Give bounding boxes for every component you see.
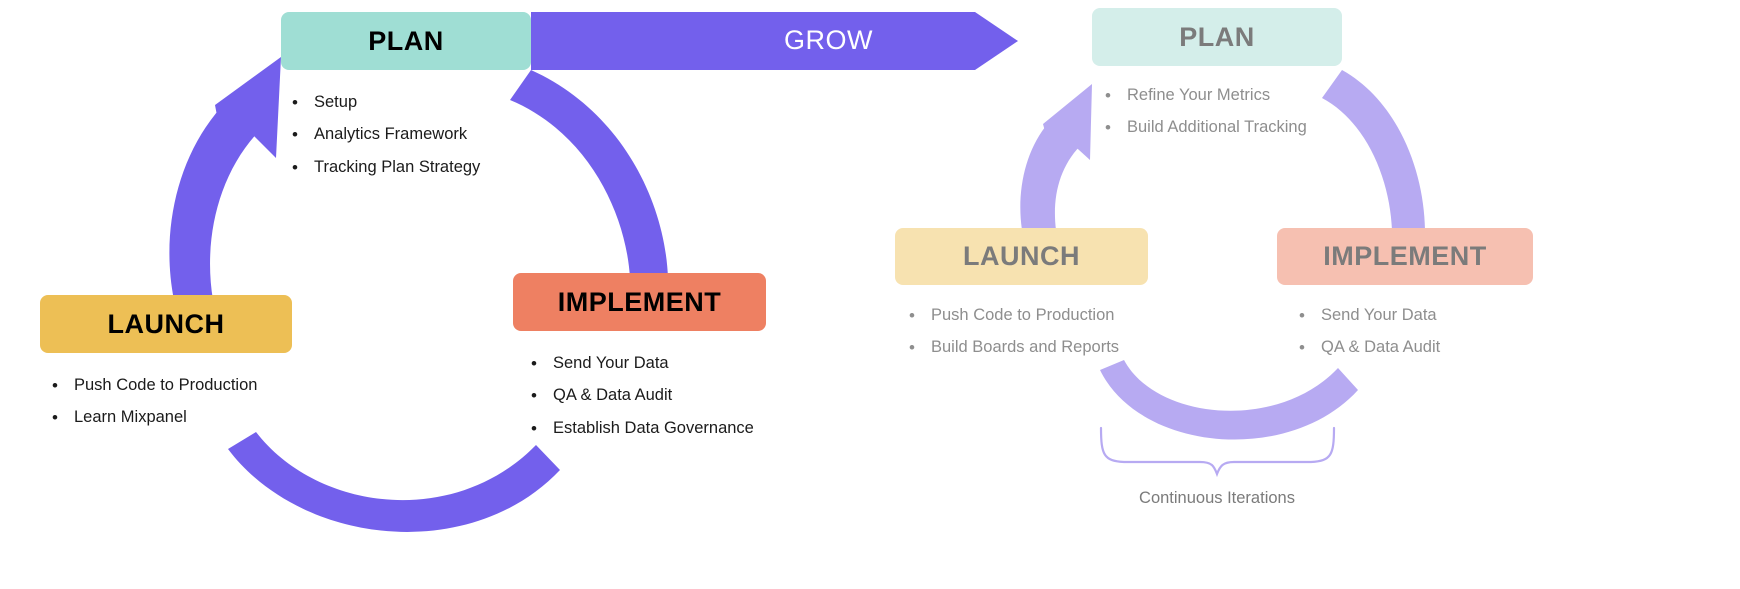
list-item: • Send Your Data [1299,305,1533,326]
node-implement-faded: IMPLEMENT • Send Your Data • QA & Data A… [1277,228,1533,370]
launch-primary-bullets: • Push Code to Production • Learn Mixpan… [52,375,292,429]
list-item: • Push Code to Production [909,305,1148,326]
bullet-icon: • [909,305,931,326]
list-item-label: Establish Data Governance [553,418,766,439]
arrow-launch-to-plan-faded [1020,84,1092,230]
bullet-icon: • [1105,117,1127,138]
implement-primary-bullets: • Send Your Data • QA & Data Audit • Est… [531,353,766,439]
list-item: • Setup [292,92,531,113]
list-item: • Learn Mixpanel [52,407,292,428]
list-item-label: QA & Data Audit [553,385,766,406]
bullet-icon: • [52,407,74,428]
node-launch-primary: LAUNCH • Push Code to Production • Learn… [40,295,292,440]
list-item: • Send Your Data [531,353,766,374]
bullet-icon: • [909,337,931,358]
bullet-icon: • [531,385,553,406]
launch-faded-bullets: • Push Code to Production • Build Boards… [909,305,1148,359]
plan-primary-bullets: • Setup • Analytics Framework • Tracking… [292,92,531,178]
plan-faded-bullets: • Refine Your Metrics • Build Additional… [1105,85,1342,139]
list-item-label: Push Code to Production [74,375,292,396]
list-item-label: Send Your Data [1321,305,1533,326]
implement-faded-bullets: • Send Your Data • QA & Data Audit [1299,305,1533,359]
list-item-label: Push Code to Production [931,305,1148,326]
list-item: • Push Code to Production [52,375,292,396]
node-implement-primary: IMPLEMENT • Send Your Data • QA & Data A… [513,273,766,450]
plan-primary-title: PLAN [281,12,531,70]
list-item-label: QA & Data Audit [1321,337,1533,358]
list-item: • Build Additional Tracking [1105,117,1342,138]
node-plan-faded: PLAN • Refine Your Metrics • Build Addit… [1092,8,1342,150]
list-item: • QA & Data Audit [1299,337,1533,358]
bullet-icon: • [292,124,314,145]
grow-label: GROW [784,25,873,56]
bullet-icon: • [292,92,314,113]
list-item: • Analytics Framework [292,124,531,145]
continuous-iterations-label: Continuous Iterations [1117,489,1317,508]
list-item: • Build Boards and Reports [909,337,1148,358]
list-item-label: Build Additional Tracking [1127,117,1342,138]
bullet-icon: • [1105,85,1127,106]
list-item: • Tracking Plan Strategy [292,157,531,178]
list-item-label: Send Your Data [553,353,766,374]
bullet-icon: • [52,375,74,396]
list-item: • QA & Data Audit [531,385,766,406]
plan-faded-title: PLAN [1092,8,1342,66]
arrow-plan-to-implement [510,70,668,278]
arrow-launch-to-plan [169,57,281,300]
list-item-label: Analytics Framework [314,124,531,145]
node-plan-primary: PLAN • Setup • Analytics Framework • Tra… [281,12,531,189]
list-item-label: Setup [314,92,531,113]
list-item: • Establish Data Governance [531,418,766,439]
bullet-icon: • [1299,337,1321,358]
grow-arrow [531,12,1018,70]
node-launch-faded: LAUNCH • Push Code to Production • Build… [895,228,1148,370]
bullet-icon: • [531,353,553,374]
implement-primary-title: IMPLEMENT [513,273,766,331]
bullet-icon: • [1299,305,1321,326]
launch-primary-title: LAUNCH [40,295,292,353]
bullet-icon: • [531,418,553,439]
lifecycle-diagram: GROW PLAN • Setup • Analytics Framework … [0,0,1740,589]
bullet-icon: • [292,157,314,178]
implement-faded-title: IMPLEMENT [1277,228,1533,285]
list-item-label: Tracking Plan Strategy [314,157,531,178]
launch-faded-title: LAUNCH [895,228,1148,285]
list-item-label: Build Boards and Reports [931,337,1148,358]
list-item-label: Learn Mixpanel [74,407,292,428]
list-item-label: Refine Your Metrics [1127,85,1342,106]
arrow-implement-to-launch [228,432,560,532]
arrow-implement-to-launch-faded [1100,360,1358,440]
continuous-iterations-brace [1101,428,1334,474]
list-item: • Refine Your Metrics [1105,85,1342,106]
